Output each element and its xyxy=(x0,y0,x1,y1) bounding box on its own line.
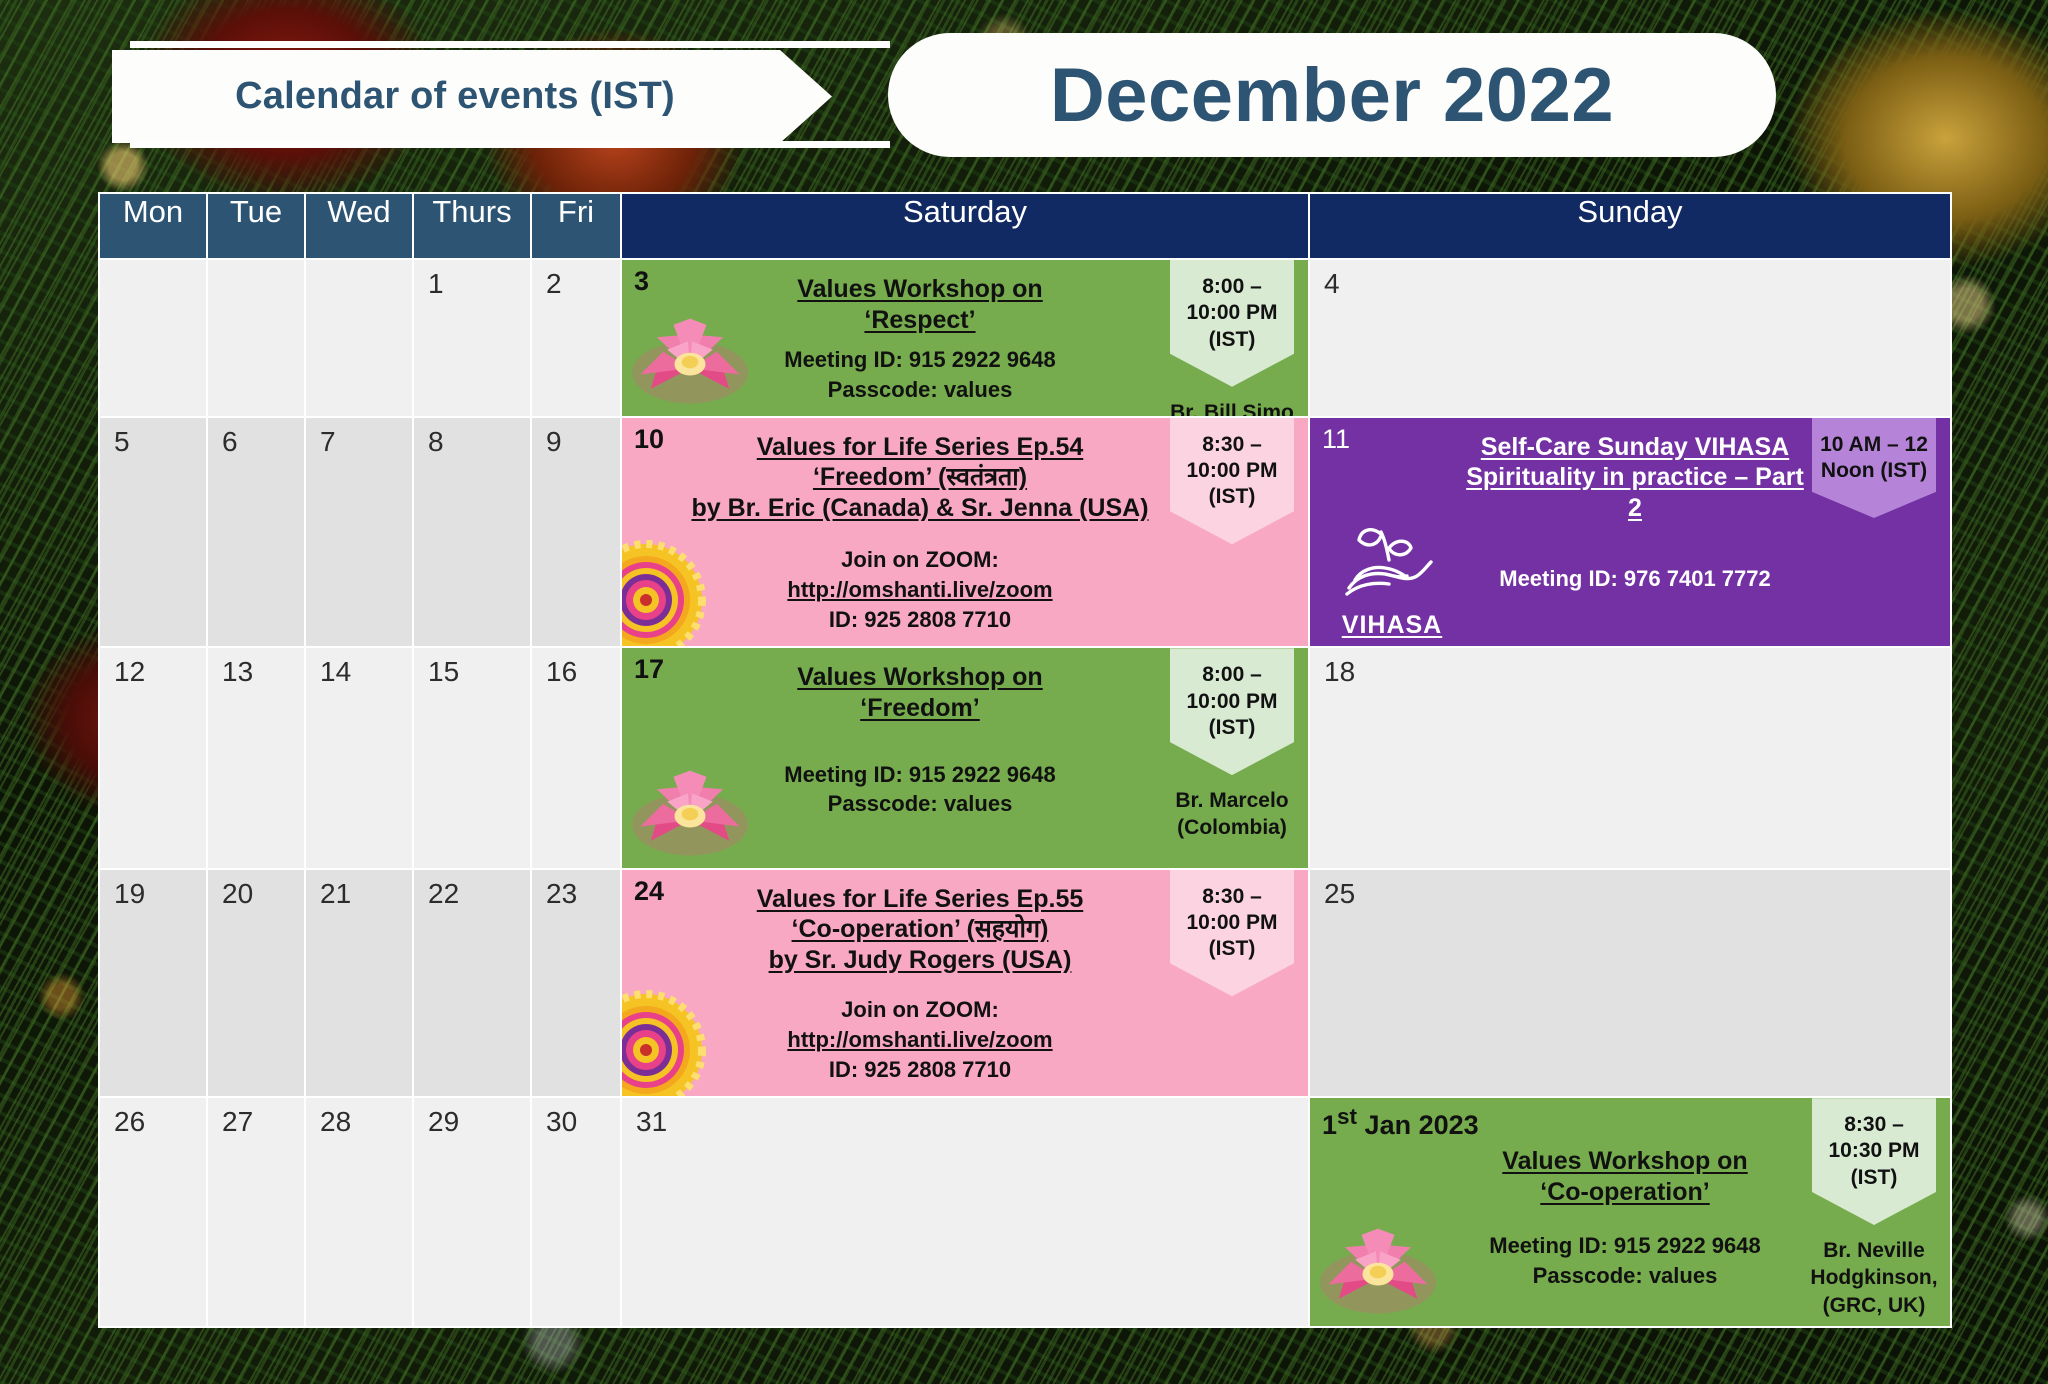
day-cell[interactable]: 28 xyxy=(305,1097,413,1327)
event-time: 8:30 – 10:00 PM (IST) xyxy=(1170,418,1294,545)
event-time-pennant: 8:30 – 10:30 PM (IST) Br. Neville Hodgki… xyxy=(1812,1098,1936,1319)
event-meeting-id: Meeting ID: 915 2922 9648 xyxy=(784,760,1055,790)
event-host-line1: Br. Bill Simo xyxy=(1170,399,1294,417)
event-time: 8:30 – 10:30 PM (IST) xyxy=(1812,1098,1936,1225)
page-title: December 2022 xyxy=(1050,52,1614,139)
day-number: 31 xyxy=(636,1106,667,1138)
event-cell-dec3[interactable]: 3 xyxy=(621,259,1309,417)
day-number: 18 xyxy=(1324,656,1355,688)
event-day-number: 10 xyxy=(634,424,664,455)
event-host: Br. Bill Simo (Spain) xyxy=(1170,399,1294,417)
day-cell[interactable] xyxy=(99,259,207,417)
day-cell[interactable]: 15 xyxy=(413,647,531,868)
column-header-wed: Wed xyxy=(305,193,413,259)
day-cell[interactable]: 16 xyxy=(531,647,621,868)
event-title-line2: ‘Co-operation’ (सहयोग) xyxy=(792,914,1049,945)
event-time: 10 AM – 12 Noon (IST) xyxy=(1812,418,1936,519)
day-number: 5 xyxy=(114,426,130,458)
day-number: 28 xyxy=(320,1106,351,1138)
column-header-sunday: Sunday xyxy=(1309,193,1951,259)
day-cell[interactable]: 2 xyxy=(531,259,621,417)
event-passcode: Passcode: values xyxy=(1489,1261,1760,1291)
event-join-id: ID: 925 2808 7710 xyxy=(787,605,1052,635)
column-header-fri: Fri xyxy=(531,193,621,259)
calendar-week-row: 19 20 21 22 23 24 xyxy=(99,869,1951,1098)
event-join-url[interactable]: http://omshanti.live/zoom xyxy=(787,1025,1052,1055)
day-cell[interactable]: 19 xyxy=(99,869,207,1098)
event-meta: Join on ZOOM: http://omshanti.live/zoom … xyxy=(787,545,1052,646)
event-day-number: 1st Jan 2023 xyxy=(1322,1104,1479,1141)
event-title-line2-text: ‘Co-operation’ xyxy=(792,915,960,943)
event-day-number: 17 xyxy=(634,654,664,685)
day-number: 30 xyxy=(546,1106,577,1138)
day-cell[interactable]: 27 xyxy=(207,1097,305,1327)
event-title-line3: by Br. Eric (Canada) & Sr. Jenna (USA) xyxy=(691,493,1148,524)
event-body: Values Workshop on ‘Freedom’ Meeting ID:… xyxy=(682,648,1158,867)
vihasa-logo: VIHASA xyxy=(1328,514,1456,640)
day-cell[interactable]: 14 xyxy=(305,647,413,868)
day-number: 16 xyxy=(546,656,577,688)
event-host-line1: Br. Neville xyxy=(1810,1237,1937,1264)
event-host: Br. Marcelo (Colombia) xyxy=(1175,787,1288,842)
calendar-subtitle-text: Calendar of events (IST) xyxy=(235,75,709,118)
day-cell[interactable]: 13 xyxy=(207,647,305,868)
calendar-subtitle-ribbon: Calendar of events (IST) xyxy=(112,50,832,143)
event-title-line1: Values Workshop on xyxy=(797,274,1042,305)
event-day-number: 11 xyxy=(1322,424,1350,455)
event-day-number: 3 xyxy=(634,266,649,297)
day-cell[interactable] xyxy=(207,259,305,417)
day-number: 12 xyxy=(114,656,145,688)
day-number: 4 xyxy=(1324,268,1340,300)
event-host: Br. Neville Hodgkinson, (GRC, UK) xyxy=(1810,1237,1937,1319)
event-time: 8:00 – 10:00 PM (IST) xyxy=(1170,260,1294,387)
day-cell[interactable]: 7 xyxy=(305,417,413,648)
calendar-week-row: 5 6 7 8 9 10 xyxy=(99,417,1951,648)
event-meta: Meeting ID: 976 7401 7772 xyxy=(1499,564,1770,606)
event-host-line2: (Colombia) xyxy=(1175,814,1288,841)
day-number: 26 xyxy=(114,1106,145,1138)
event-time-pennant: 10 AM – 12 Noon (IST) xyxy=(1812,418,1936,519)
event-meta: Meeting ID: 915 2922 9648 Passcode: valu… xyxy=(784,345,1055,416)
event-meeting-id: Meeting ID: 915 2922 9648 xyxy=(1489,1231,1760,1261)
event-title-line2: ‘Co-operation’ xyxy=(1540,1177,1709,1208)
hand-sprout-icon xyxy=(1337,514,1447,604)
day-number: 9 xyxy=(546,426,562,458)
event-title-line2: Spirituality in practice – Part 2 xyxy=(1460,462,1810,523)
day-number: 22 xyxy=(428,878,459,910)
event-body: Values Workshop on ‘Co-operation’ Meetin… xyxy=(1440,1098,1810,1326)
calendar-week-row: 26 27 28 29 30 31 1st Jan 2023 xyxy=(99,1097,1951,1327)
event-body: Values for Life Series Ep.55 ‘Co-operati… xyxy=(682,870,1158,1097)
day-cell[interactable] xyxy=(305,259,413,417)
event-cell-jan1[interactable]: 1st Jan 2023 xyxy=(1309,1097,1951,1327)
day-cell[interactable]: 30 xyxy=(531,1097,621,1327)
event-title-line2: ‘Freedom’ (स्वतंत्रता) xyxy=(813,462,1027,493)
calendar-week-row: 12 13 14 15 16 17 xyxy=(99,647,1951,868)
event-title-line1: Values Workshop on xyxy=(1502,1146,1747,1177)
event-title-line2-hindi: (सहयोग) xyxy=(960,915,1049,943)
page-header: Calendar of events (IST) December 2022 xyxy=(0,0,2048,160)
day-number: 29 xyxy=(428,1106,459,1138)
event-meta: Meeting ID: 915 2922 9648 Passcode: valu… xyxy=(784,760,1055,831)
event-cell-dec24[interactable]: 24 Values for Life Ser xyxy=(621,869,1309,1098)
day-number: 8 xyxy=(428,426,444,458)
event-title-line2: ‘Respect’ xyxy=(864,305,975,336)
day-number: 2 xyxy=(546,268,562,300)
column-header-tue: Tue xyxy=(207,193,305,259)
event-title-line2-text: ‘Freedom’ xyxy=(813,463,931,491)
day-number: 20 xyxy=(222,878,253,910)
event-host-line3: (GRC, UK) xyxy=(1810,1292,1937,1319)
day-number: 7 xyxy=(320,426,336,458)
day-cell[interactable]: 8 xyxy=(413,417,531,648)
event-title-line1: Values for Life Series Ep.55 xyxy=(757,884,1084,915)
header-rule-top xyxy=(130,41,890,48)
day-cell[interactable]: 6 xyxy=(207,417,305,648)
event-cell-dec17[interactable]: 17 xyxy=(621,647,1309,868)
column-header-mon: Mon xyxy=(99,193,207,259)
day-number: 13 xyxy=(222,656,253,688)
event-meeting-id: Meeting ID: 976 7401 7772 xyxy=(1499,564,1770,594)
event-title-line1: Values for Life Series Ep.54 xyxy=(757,432,1084,463)
event-body: Values Workshop on ‘Respect’ Meeting ID:… xyxy=(682,260,1158,416)
day-number: 1 xyxy=(428,268,444,300)
event-join-id: ID: 925 2808 7710 xyxy=(787,1055,1052,1085)
day-cell[interactable]: 9 xyxy=(531,417,621,648)
calendar-grid: Mon Tue Wed Thurs Fri Saturday Sunday 1 … xyxy=(98,192,1952,1328)
event-title-line1: Self-Care Sunday VIHASA xyxy=(1481,432,1789,463)
event-title-line2-hindi: (स्वतंत्रता) xyxy=(931,463,1027,491)
day-cell-dec18[interactable]: 18 xyxy=(1309,647,1951,868)
event-join-label: Join on ZOOM: xyxy=(787,545,1052,575)
event-title-line2: ‘Freedom’ xyxy=(860,693,979,724)
event-time: 8:00 – 10:00 PM (IST) xyxy=(1170,648,1294,775)
event-time-pennant: 8:00 – 10:00 PM (IST) Br. Bill Simo (Spa… xyxy=(1170,260,1294,417)
lotus-flower-icon xyxy=(1316,1218,1440,1322)
event-day-number-rest: Jan 2023 xyxy=(1357,1110,1479,1140)
event-time-pennant: 8:30 – 10:00 PM (IST) xyxy=(1170,870,1294,997)
event-join-url[interactable]: http://omshanti.live/zoom xyxy=(787,575,1052,605)
event-passcode: Passcode: values xyxy=(784,375,1055,405)
event-join-label: Join on ZOOM: xyxy=(787,995,1052,1025)
day-number: 23 xyxy=(546,878,577,910)
event-meta: Meeting ID: 915 2922 9648 Passcode: valu… xyxy=(1489,1231,1760,1302)
event-passcode: Passcode: values xyxy=(784,789,1055,819)
day-cell[interactable]: 1 xyxy=(413,259,531,417)
event-body: Values for Life Series Ep.54 ‘Freedom’ (… xyxy=(682,418,1158,647)
day-cell[interactable]: 29 xyxy=(413,1097,531,1327)
day-cell[interactable]: 5 xyxy=(99,417,207,648)
day-cell[interactable]: 20 xyxy=(207,869,305,1098)
event-time: 8:30 – 10:00 PM (IST) xyxy=(1170,870,1294,997)
day-cell-dec4[interactable]: 4 xyxy=(1309,259,1951,417)
day-number: 6 xyxy=(222,426,238,458)
event-title-line3: by Sr. Judy Rogers (USA) xyxy=(769,945,1072,976)
day-cell-dec31[interactable]: 31 xyxy=(621,1097,1309,1327)
month-title-pill: December 2022 xyxy=(888,33,1776,157)
day-cell[interactable]: 21 xyxy=(305,869,413,1098)
event-host-line2: Hodgkinson, xyxy=(1810,1264,1937,1291)
column-header-thurs: Thurs xyxy=(413,193,531,259)
day-number: 25 xyxy=(1324,878,1355,910)
event-time-pennant: 8:30 – 10:00 PM (IST) xyxy=(1170,418,1294,545)
event-title-line1: Values Workshop on xyxy=(797,662,1042,693)
calendar-header-row: Mon Tue Wed Thurs Fri Saturday Sunday xyxy=(99,193,1951,259)
event-day-number: 24 xyxy=(634,876,664,907)
day-number: 27 xyxy=(222,1106,253,1138)
event-meta: Join on ZOOM: http://omshanti.live/zoom … xyxy=(787,995,1052,1096)
day-cell[interactable]: 26 xyxy=(99,1097,207,1327)
day-cell[interactable]: 12 xyxy=(99,647,207,868)
event-cell-dec11[interactable]: 11 VIHASA xyxy=(1309,417,1951,648)
day-number: 15 xyxy=(428,656,459,688)
calendar-week-row: 1 2 3 xyxy=(99,259,1951,417)
event-day-number-main: 1 xyxy=(1322,1110,1337,1140)
column-header-saturday: Saturday xyxy=(621,193,1309,259)
event-meeting-id: Meeting ID: 915 2922 9648 xyxy=(784,345,1055,375)
day-cell[interactable]: 23 xyxy=(531,869,621,1098)
event-body: Self-Care Sunday VIHASA Spirituality in … xyxy=(1460,418,1810,647)
day-cell-dec25[interactable]: 25 xyxy=(1309,869,1951,1098)
event-cell-dec10[interactable]: 10 xyxy=(621,417,1309,648)
vihasa-wordmark: VIHASA xyxy=(1328,611,1456,640)
day-cell[interactable]: 22 xyxy=(413,869,531,1098)
event-host-line1: Br. Marcelo xyxy=(1175,787,1288,814)
day-number: 14 xyxy=(320,656,351,688)
day-number: 19 xyxy=(114,878,145,910)
event-time-pennant: 8:00 – 10:00 PM (IST) Br. Marcelo (Colom… xyxy=(1170,648,1294,841)
event-day-number-ordinal: st xyxy=(1337,1104,1357,1129)
day-number: 21 xyxy=(320,878,351,910)
